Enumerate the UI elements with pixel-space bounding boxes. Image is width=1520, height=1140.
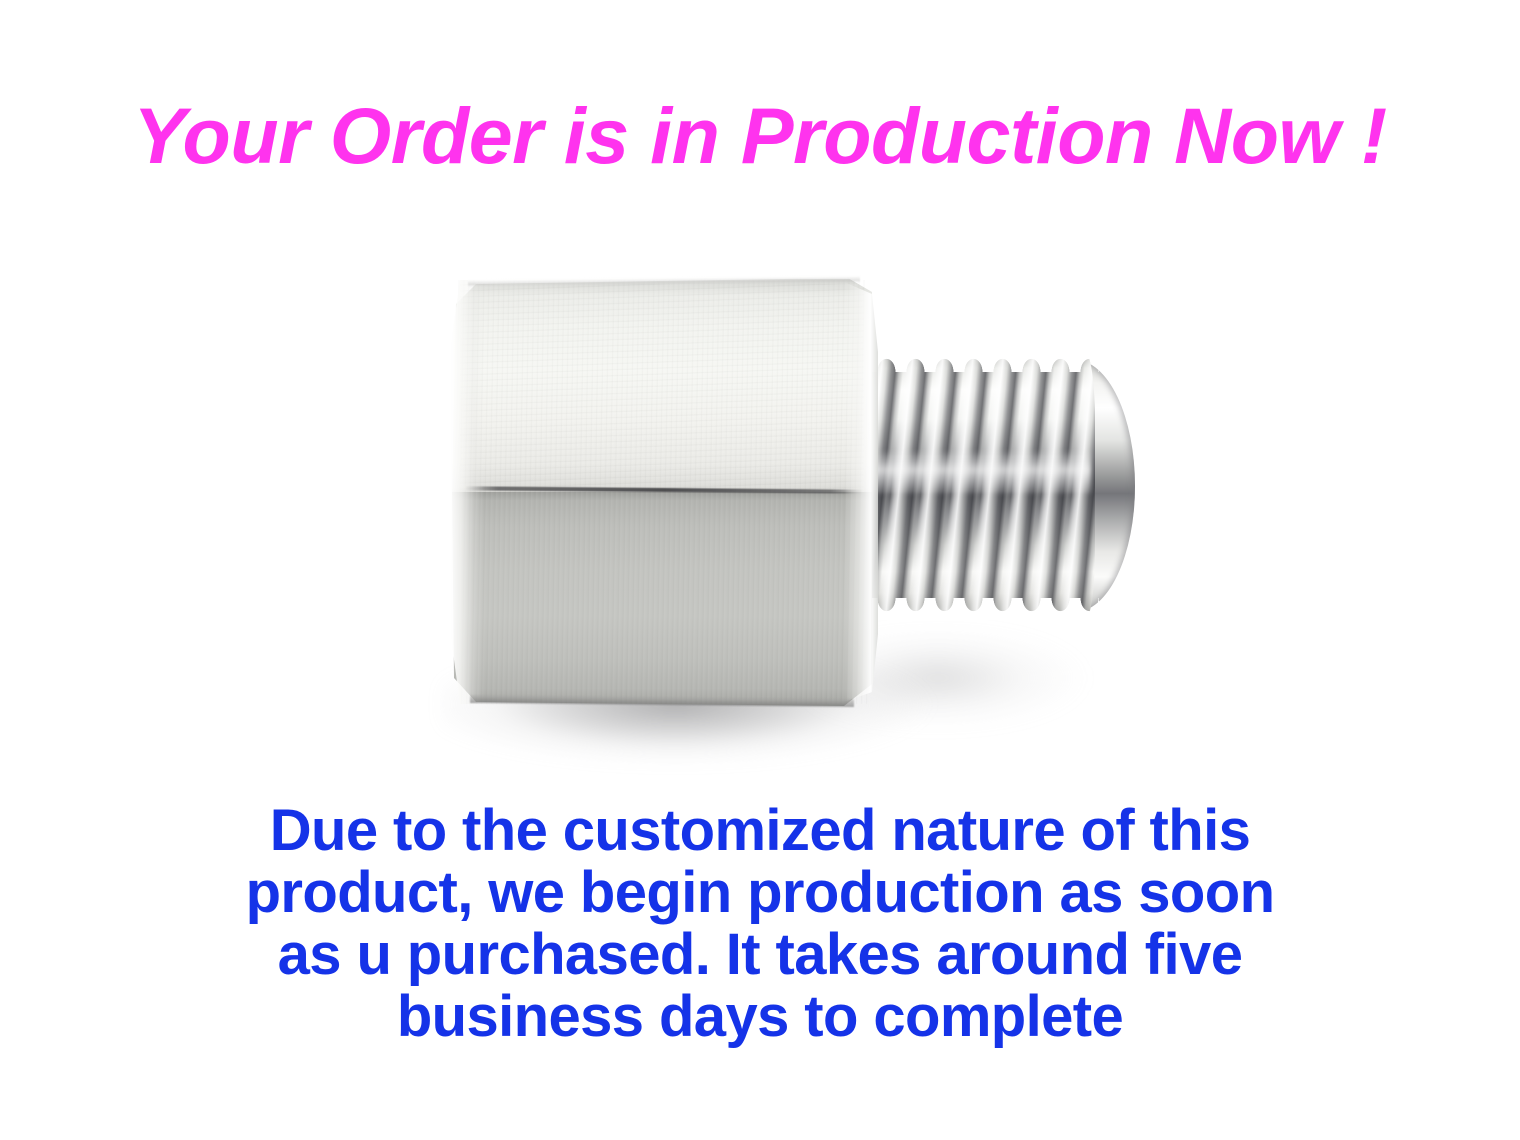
thread-grooves bbox=[845, 352, 1095, 620]
notice-line-2: product, we begin production as soon bbox=[0, 862, 1520, 924]
hex-face-lower bbox=[452, 492, 872, 706]
promo-banner: Your Order is in Production Now ! bbox=[0, 0, 1520, 1140]
hex-left-chamfer bbox=[450, 280, 484, 704]
notice-line-4: business days to complete bbox=[0, 986, 1520, 1048]
thread-teeth-top-silhouette bbox=[843, 350, 1099, 372]
hex-right-shoulder bbox=[844, 282, 878, 702]
page-title: Your Order is in Production Now ! bbox=[0, 92, 1520, 180]
product-image bbox=[380, 240, 1200, 780]
thread-teeth-bottom-silhouette bbox=[843, 598, 1099, 620]
hex-nut-body bbox=[452, 278, 872, 706]
hex-face-upper bbox=[452, 278, 872, 494]
male-threaded-end bbox=[845, 342, 1135, 632]
notice-line-3: as u purchased. It takes around five bbox=[0, 924, 1520, 986]
production-notice: Due to the customized nature of this pro… bbox=[0, 800, 1520, 1048]
notice-line-1: Due to the customized nature of this bbox=[0, 800, 1520, 862]
